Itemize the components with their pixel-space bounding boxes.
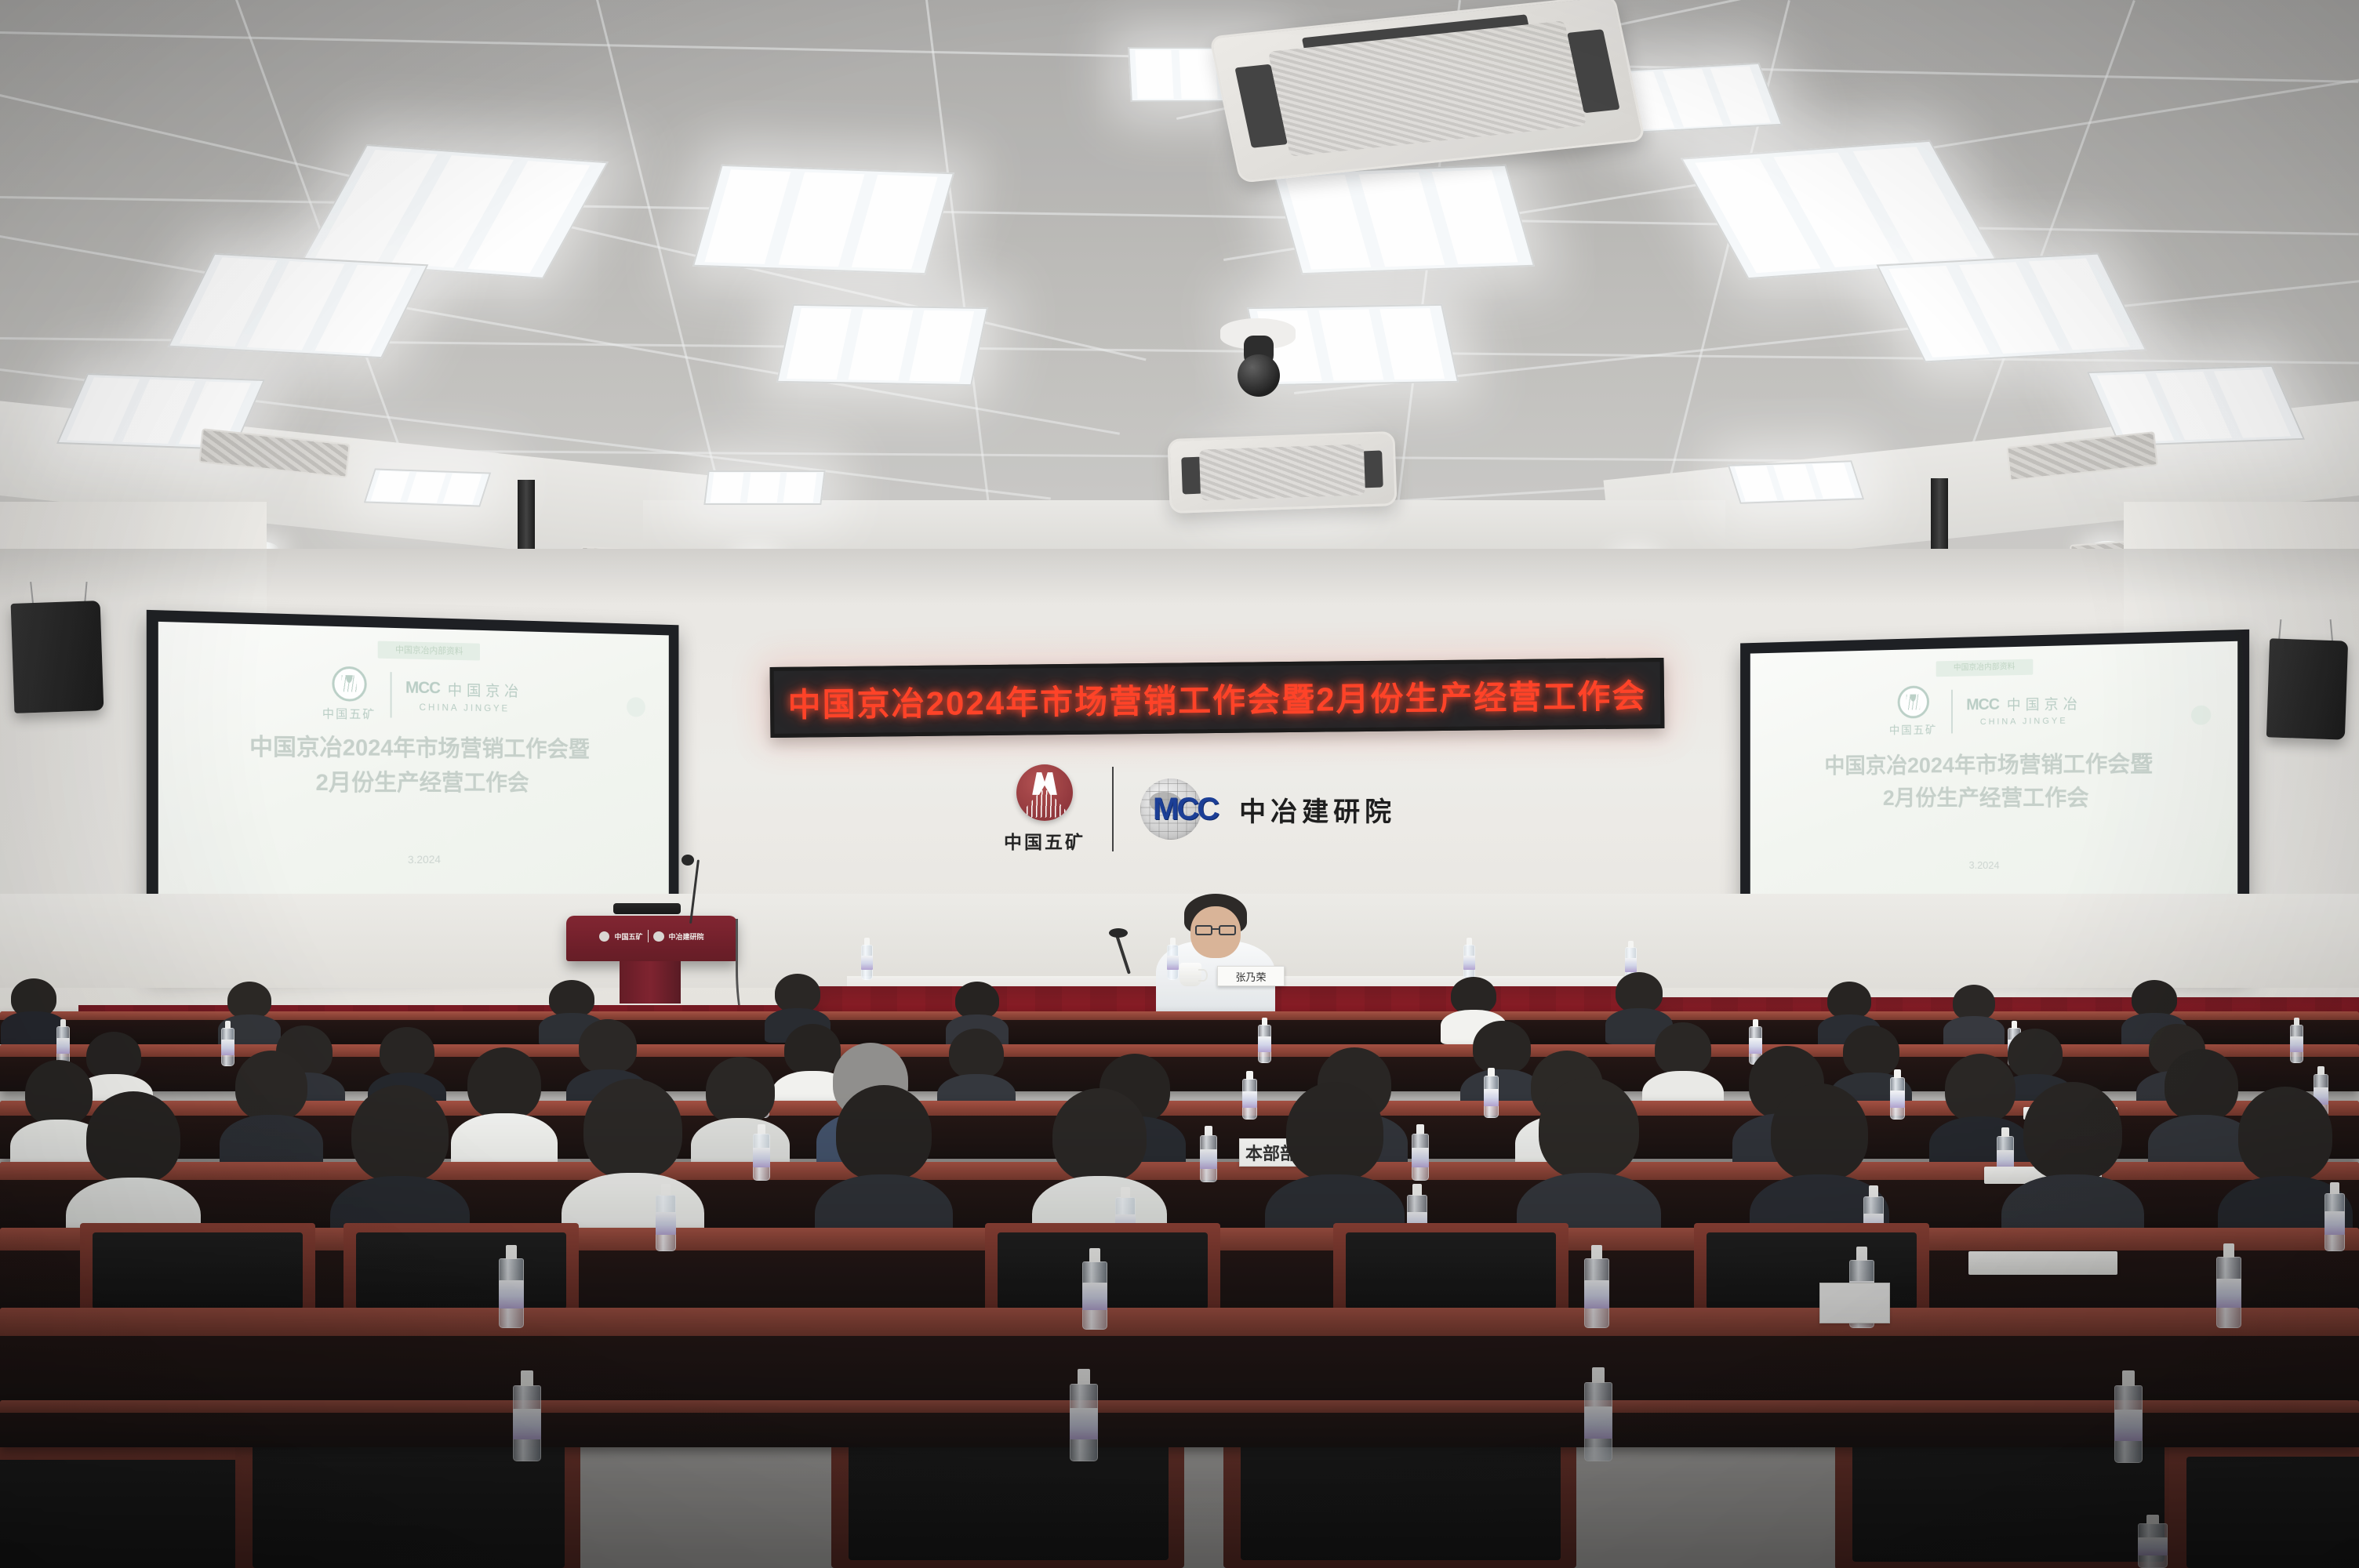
jingye-logo: MCC 中国京冶 CHINA JINGYE (1966, 693, 2082, 727)
jingye-label-cn: 中国京冶 (2007, 693, 2082, 715)
water-bottle (1258, 1018, 1271, 1063)
mcc-mark: MCC (405, 679, 440, 699)
slide-logo-row: 中国五矿 MCC 中国京冶 CHINA JINGYE (158, 662, 669, 725)
wall-top-shade (0, 549, 2359, 604)
mcc-globe-icon (653, 931, 664, 942)
slide-title: 中国京冶2024年市场营销工作会暨 2月份生产经营工作会 (1777, 747, 2206, 815)
water-bottle (56, 1019, 70, 1065)
jingye-label-cn: 中国京冶 (448, 678, 523, 700)
attendee (1953, 985, 1995, 1047)
minmetals-label: 中国五矿 (322, 705, 376, 722)
slide-watermark: 中国京冶内部资料 (378, 641, 480, 660)
conference-room-photo: 中国京冶内部资料 中国五矿 MCC 中国京冶 CHINA JINGYE 中国京冶 (0, 0, 2359, 1568)
slide-title-line2: 2月份生产经营工作会 (1777, 781, 2206, 815)
eyeglasses (1219, 925, 1236, 935)
minmetals-wall-label: 中国五矿 (1004, 827, 1085, 854)
mcc-wall-label: 中冶建研院 (1239, 790, 1396, 829)
speaker-name-card: 张乃荣 (1217, 966, 1285, 986)
jingye-logo: MCC 中国京冶 CHINA JINGYE (405, 677, 523, 713)
podium-minmetals-label: 中国五矿 (614, 931, 642, 942)
slide-title: 中国京冶2024年市场营销工作会暨 2月份生产经营工作会 (191, 731, 641, 801)
slide-title-line1: 中国京冶2024年市场营销工作会暨 (191, 731, 641, 768)
podium-mcc-label: 中冶建研院 (669, 931, 704, 942)
minmetals-label: 中国五矿 (1889, 722, 1937, 738)
minmetals-emblem (599, 931, 609, 942)
eyeglasses (1195, 925, 1212, 935)
slide-watermark: 中国京冶内部资料 (1936, 659, 2033, 677)
slide-title-line2: 2月份生产经营工作会 (191, 766, 641, 801)
podium-logo-row: 中国五矿 中冶建研院 (566, 930, 737, 942)
water-bottle (221, 1021, 234, 1066)
podium-divider (648, 930, 649, 942)
audience-depth-shadow (0, 1090, 2359, 1568)
microphone-head-icon (1109, 928, 1128, 938)
slide-title-line1: 中国京冶2024年市场营销工作会暨 (1777, 747, 2206, 782)
water-bottle (1463, 938, 1475, 980)
slide-date: 3.2024 (158, 850, 669, 868)
water-bottle (2290, 1018, 2303, 1063)
mcc-mark: MCC (1966, 695, 1999, 714)
minmetals-logo: 中国五矿 (322, 666, 376, 722)
ceiling-air-conditioner (1167, 431, 1397, 514)
mcc-wall-mark: MCC (1153, 792, 1217, 827)
teacup (1179, 963, 1201, 986)
logo-divider (1112, 767, 1114, 851)
jingye-label-en: CHINA JINGYE (405, 701, 523, 713)
wall-logo-row: 中国五矿 MCC 中冶建研院 (1004, 764, 1396, 854)
jingye-label-en: CHINA JINGYE (1966, 716, 2082, 727)
water-bottle (861, 938, 873, 980)
slide-date: 3.2024 (1750, 858, 2237, 875)
attendee (11, 978, 56, 1046)
minmetals-emblem (1016, 764, 1073, 821)
back-rail (0, 1011, 2359, 1044)
mcc-wall-logo: MCC 中冶建研院 (1140, 779, 1396, 840)
minmetals-wall-logo: 中国五矿 (1004, 764, 1085, 854)
led-banner: 中国京冶2024年市场营销工作会暨2月份生产经营工作会 (770, 658, 1665, 738)
water-bottle (1167, 938, 1179, 980)
led-banner-text: 中国京冶2024年市场营销工作会暨2月份生产经营工作会 (787, 670, 1646, 726)
minmetals-logo: 中国五矿 (1889, 685, 1937, 738)
microphone-head-icon (682, 855, 694, 866)
slide-logo-row: 中国五矿 MCC 中国京冶 CHINA JINGYE (1750, 680, 2237, 739)
